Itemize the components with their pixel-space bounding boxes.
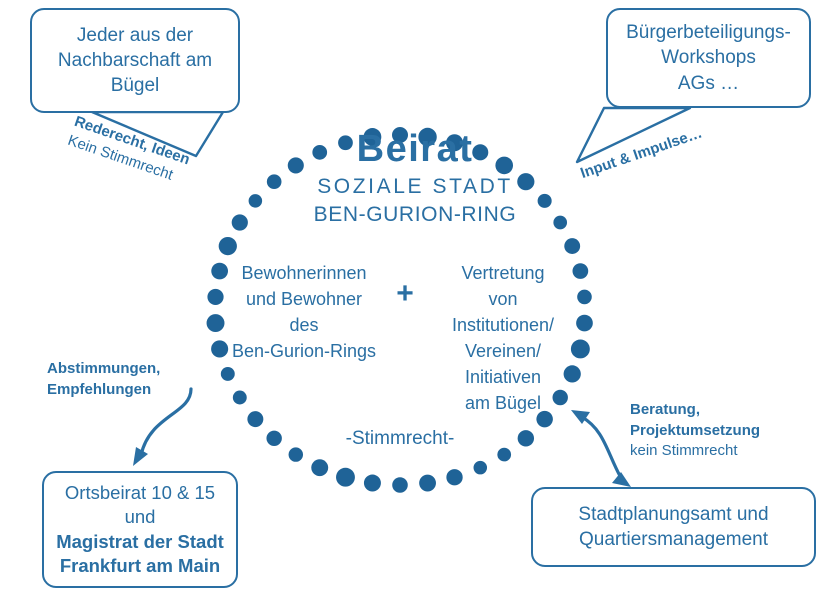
- box-stadtplanungsamt-line-2: Quartiersmanagement: [579, 527, 768, 552]
- column-institutions-line-6: am Bügel: [428, 390, 578, 416]
- box-workshops[interactable]: Bürgerbeteiligungs- Workshops AGs …: [606, 8, 811, 108]
- ring-dot: [247, 411, 263, 427]
- label-rederecht: Rederecht, Ideen Kein Stimmrecht: [65, 112, 192, 190]
- box-ortsbeirat-line-4: Frankfurt am Main: [60, 554, 220, 578]
- ring-dot: [311, 459, 328, 476]
- label-beratung-line-1: Beratung,: [630, 400, 760, 421]
- page-title: Beirat: [275, 128, 555, 171]
- column-institutions: Vertretung von Institutionen/ Vereinen/ …: [428, 260, 578, 417]
- label-beratung-line-3: kein Stimmrecht: [630, 441, 760, 462]
- diagram-canvas: Jeder aus der Nachbarschaft am Bügel Bür…: [0, 0, 820, 600]
- ring-dot: [419, 475, 436, 492]
- ring-dot: [497, 448, 511, 462]
- column-institutions-line-4: Vereinen/: [428, 338, 578, 364]
- box-workshops-line-1: Bürgerbeteiligungs-: [626, 20, 791, 45]
- ring-dot: [474, 461, 488, 475]
- ring-dot: [564, 238, 580, 254]
- arrow-abstimmungen-head: [133, 447, 148, 466]
- box-workshops-line-3: AGs …: [678, 71, 739, 96]
- box-ortsbeirat[interactable]: Ortsbeirat 10 & 15 und Magistrat der Sta…: [42, 471, 238, 588]
- box-neighbourhood-line-2: Nachbarschaft am: [58, 48, 212, 73]
- label-beratung: Beratung, Projektumsetzung kein Stimmrec…: [630, 400, 760, 462]
- column-residents-line-1: Bewohnerinnen: [218, 260, 390, 286]
- ring-dot: [553, 216, 567, 230]
- box-ortsbeirat-line-2: und: [125, 505, 156, 529]
- column-residents-line-2: und Bewohner: [218, 286, 390, 312]
- ring-dot: [249, 194, 263, 208]
- subtitle-ben-gurion-ring: BEN-GURION-RING: [275, 203, 555, 227]
- column-institutions-line-5: Initiativen: [428, 364, 578, 390]
- column-institutions-line-1: Vertretung: [428, 260, 578, 286]
- box-stadtplanungsamt-line-1: Stadtplanungsamt und: [578, 502, 768, 527]
- ring-dot: [219, 237, 237, 255]
- column-residents: Bewohnerinnen und Bewohner des Ben-Gurio…: [218, 260, 390, 364]
- ring-dot: [233, 391, 247, 405]
- label-stimmrecht: -Stimmrecht-: [320, 428, 480, 450]
- column-institutions-line-2: von: [428, 286, 578, 312]
- ring-dot: [446, 469, 462, 485]
- ring-dot: [266, 431, 281, 446]
- arrow-beratung: [582, 417, 620, 476]
- box-ortsbeirat-line-1: Ortsbeirat 10 & 15: [65, 481, 215, 505]
- box-neighbourhood-line-3: Bügel: [111, 73, 160, 98]
- column-institutions-line-3: Institutionen/: [428, 312, 578, 338]
- column-residents-line-3: des: [218, 312, 390, 338]
- plus-icon: +: [390, 277, 420, 311]
- box-neighbourhood-line-1: Jeder aus der: [77, 23, 193, 48]
- ring-dot: [576, 315, 593, 332]
- label-input-impulse: Input & Impulse…: [578, 123, 705, 184]
- box-neighbourhood[interactable]: Jeder aus der Nachbarschaft am Bügel: [30, 8, 240, 113]
- ring-dot: [392, 477, 408, 493]
- ring-dot: [577, 290, 592, 305]
- ring-dot: [364, 475, 381, 492]
- label-abstimmungen-line-2: Empfehlungen: [47, 380, 160, 401]
- ring-dot: [518, 430, 534, 446]
- ring-dot: [336, 468, 355, 487]
- label-abstimmungen: Abstimmungen, Empfehlungen: [47, 359, 160, 400]
- ring-dot: [289, 447, 303, 461]
- box-ortsbeirat-line-3: Magistrat der Stadt: [56, 530, 224, 554]
- column-residents-line-4: Ben-Gurion-Rings: [218, 338, 390, 364]
- arrow-beratung-head-down: [612, 472, 631, 487]
- box-stadtplanungsamt[interactable]: Stadtplanungsamt und Quartiersmanagement: [531, 487, 816, 567]
- subtitle-soziale-stadt: SOZIALE STADT: [275, 175, 555, 199]
- ring-dot: [221, 367, 235, 381]
- label-beratung-line-2: Projektumsetzung: [630, 421, 760, 442]
- label-abstimmungen-line-1: Abstimmungen,: [47, 359, 160, 380]
- ring-dot: [232, 214, 248, 230]
- box-workshops-line-2: Workshops: [661, 45, 756, 70]
